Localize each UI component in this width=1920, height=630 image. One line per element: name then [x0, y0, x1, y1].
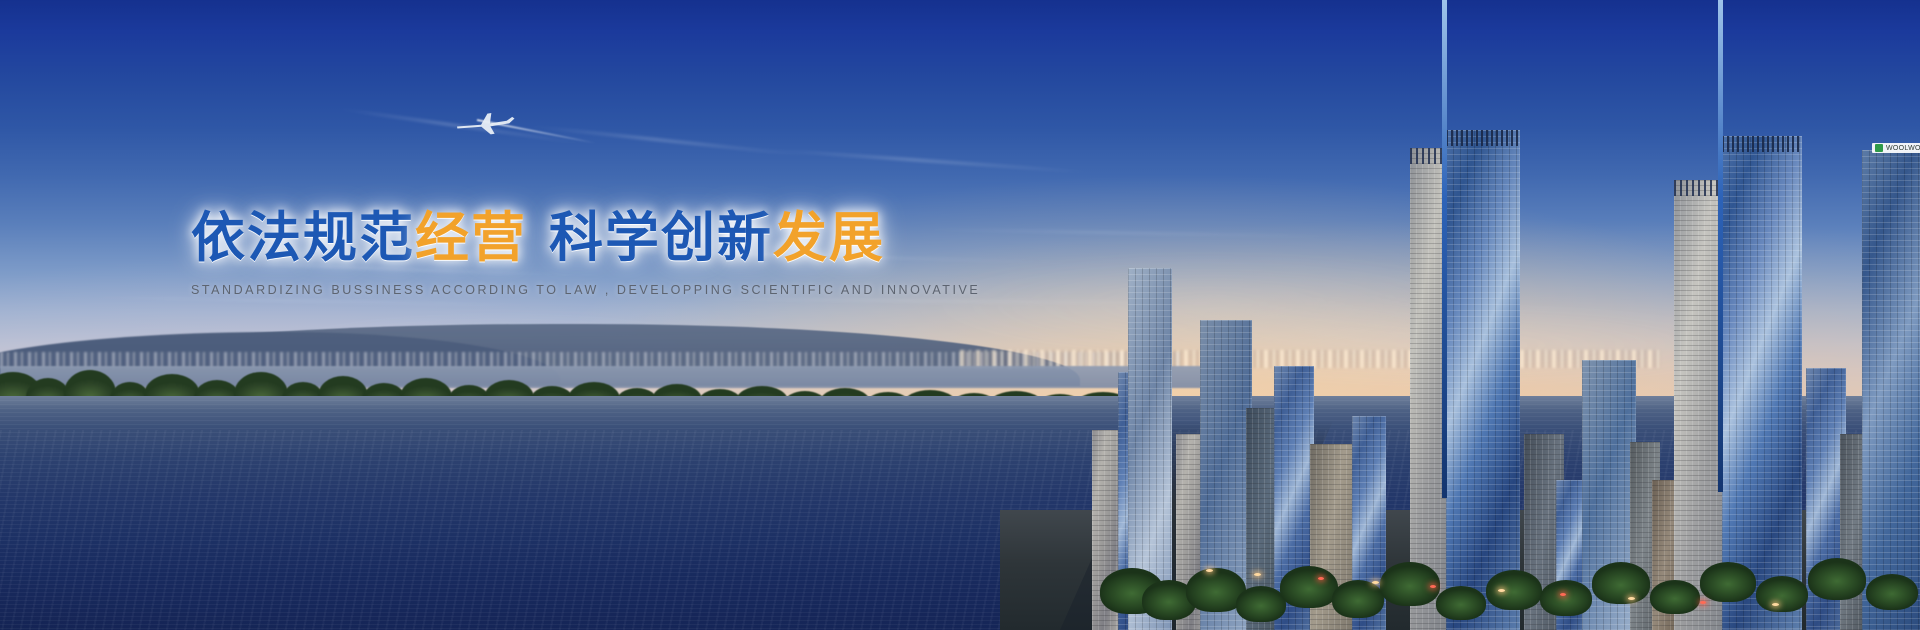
headline: 依法规范经营科学创新发展 — [191, 210, 891, 267]
headline-segment-3: 科学创新 — [549, 206, 773, 269]
headline-segment-1: 依法规范 — [191, 206, 415, 269]
hero-banner: WOOLWORTHS 依法规范经营科学创新发展 — [0, 0, 1920, 630]
banner-text-block: 依法规范经营科学创新发展 STANDARDIZING BUSSINESS ACC… — [191, 210, 891, 297]
headline-segment-4: 发展 — [773, 206, 885, 269]
sign-logo-icon — [1875, 144, 1883, 152]
woolworths-sign: WOOLWORTHS — [1872, 143, 1920, 153]
sign-label: WOOLWORTHS — [1886, 145, 1920, 152]
headline-segment-2: 经营 — [415, 206, 527, 269]
subtitle: STANDARDIZING BUSSINESS ACCORDING TO LAW… — [191, 283, 891, 297]
cityscape: WOOLWORTHS — [1000, 0, 1920, 630]
